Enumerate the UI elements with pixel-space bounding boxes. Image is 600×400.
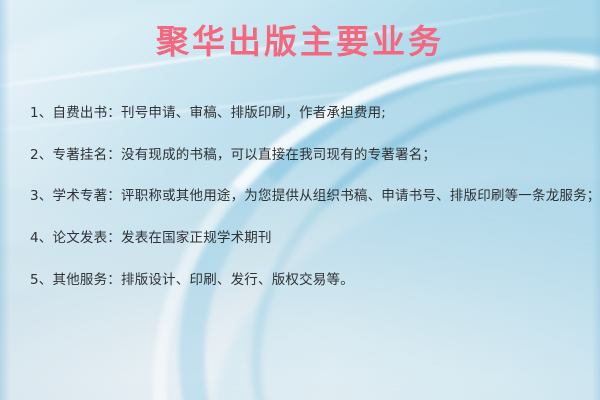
business-list: 1、自费出书：刊号申请、审稿、排版印刷，作者承担费用; 2、专著挂名：没有现成的… (30, 104, 592, 289)
list-item: 3、学术专著：评职称或其他用途，为您提供从组织书稿、申请书号、排版印刷等一条龙服… (30, 187, 592, 205)
page-title: 聚华出版主要业务 (0, 22, 600, 62)
presentation-slide: 聚华出版主要业务 1、自费出书：刊号申请、审稿、排版印刷，作者承担费用; 2、专… (0, 0, 600, 400)
list-item: 2、专著挂名：没有现成的书稿，可以直接在我司现有的专著署名； (30, 146, 592, 164)
list-item: 1、自费出书：刊号申请、审稿、排版印刷，作者承担费用; (30, 104, 592, 122)
slide-content: 聚华出版主要业务 1、自费出书：刊号申请、审稿、排版印刷，作者承担费用; 2、专… (0, 0, 600, 400)
list-item: 4、论文发表：发表在国家正规学术期刊 (30, 229, 592, 247)
list-item: 5、其他服务：排版设计、印刷、发行、版权交易等。 (30, 271, 592, 289)
